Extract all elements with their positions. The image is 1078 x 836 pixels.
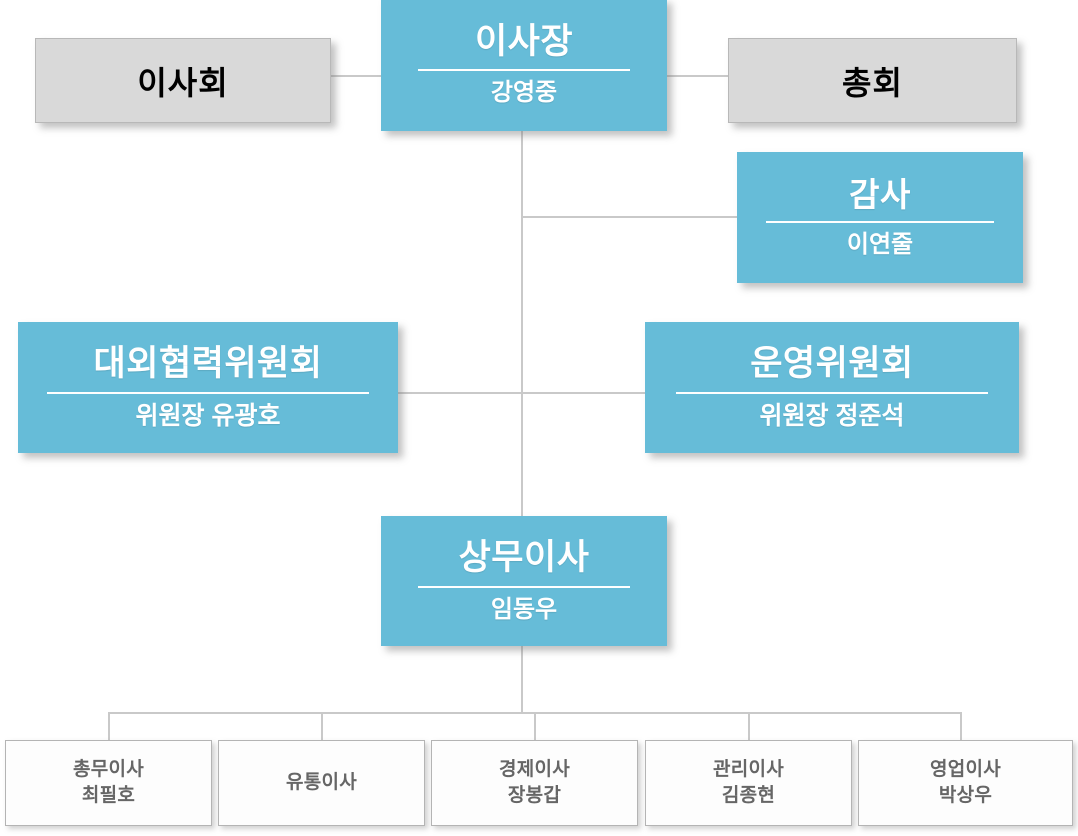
connector-drop-leaf-2 xyxy=(534,712,536,742)
org-chart-canvas: 이사회 이사장 강영중 총회 감사 이연줄 대외협력위원회 위원장 유광호 운영… xyxy=(0,0,1078,836)
node-board-of-directors[interactable]: 이사회 xyxy=(35,38,331,123)
title-divider xyxy=(766,221,994,223)
title-divider xyxy=(47,392,369,394)
title-divider xyxy=(676,392,988,394)
leaf-node-row: 총무이사 최필호 유통이사 경제이사 장봉갑 관리이사 김종현 영업이사 박상우 xyxy=(0,740,1078,828)
node-distribution-director[interactable]: 유통이사 xyxy=(218,740,425,826)
connector-drop-leaf-3 xyxy=(748,712,750,742)
node-title: 총무이사 xyxy=(73,757,144,783)
node-title: 관리이사 xyxy=(713,757,784,783)
node-person-name: 박상우 xyxy=(939,783,992,809)
node-person-name: 위원장 정준석 xyxy=(760,403,905,429)
node-person-name: 장봉갑 xyxy=(508,783,561,809)
node-auditor[interactable]: 감사 이연줄 xyxy=(737,152,1023,283)
node-managing-director[interactable]: 상무이사 임동우 xyxy=(381,516,667,646)
node-general-affairs-director[interactable]: 총무이사 최필호 xyxy=(5,740,212,826)
connector-chairman-to-assembly xyxy=(667,75,728,77)
connector-trunk-to-auditor xyxy=(521,216,737,218)
connector-trunk-lower xyxy=(521,646,523,713)
node-person-name: 이연줄 xyxy=(847,232,913,257)
node-title: 총회 xyxy=(842,58,903,104)
title-divider xyxy=(418,69,630,71)
node-title: 감사 xyxy=(849,178,911,213)
node-economy-director[interactable]: 경제이사 장봉갑 xyxy=(431,740,638,826)
connector-drop-leaf-1 xyxy=(321,712,323,742)
node-title: 영업이사 xyxy=(930,757,1001,783)
node-person-name: 위원장 유광호 xyxy=(136,403,281,429)
node-title: 상무이사 xyxy=(459,540,590,577)
node-general-assembly[interactable]: 총회 xyxy=(728,38,1017,123)
connector-trunk-to-external-committee xyxy=(398,392,522,394)
connector-chairman-to-board xyxy=(331,75,381,77)
node-person-name: 최필호 xyxy=(82,783,135,809)
connector-trunk-upper xyxy=(521,131,523,516)
node-chairman[interactable]: 이사장 강영중 xyxy=(381,0,667,131)
node-title: 이사회 xyxy=(137,58,228,104)
connector-drop-leaf-4 xyxy=(960,712,962,742)
node-title: 경제이사 xyxy=(499,757,570,783)
node-sales-director[interactable]: 영업이사 박상우 xyxy=(858,740,1073,826)
title-divider xyxy=(418,586,630,588)
node-person-name: 강영중 xyxy=(491,80,557,105)
node-management-director[interactable]: 관리이사 김종현 xyxy=(645,740,852,826)
connector-drop-leaf-0 xyxy=(108,712,110,742)
node-title: 대외협력위원회 xyxy=(94,346,323,383)
node-title: 이사장 xyxy=(475,24,573,61)
node-title: 유통이사 xyxy=(286,770,357,796)
connector-trunk-to-operating-committee xyxy=(521,392,645,394)
node-title: 운영위원회 xyxy=(750,346,914,383)
node-person-name: 김종현 xyxy=(722,783,775,809)
node-person-name: 임동우 xyxy=(491,597,557,622)
node-operating-committee[interactable]: 운영위원회 위원장 정준석 xyxy=(645,322,1019,453)
node-external-cooperation-committee[interactable]: 대외협력위원회 위원장 유광호 xyxy=(18,322,398,453)
